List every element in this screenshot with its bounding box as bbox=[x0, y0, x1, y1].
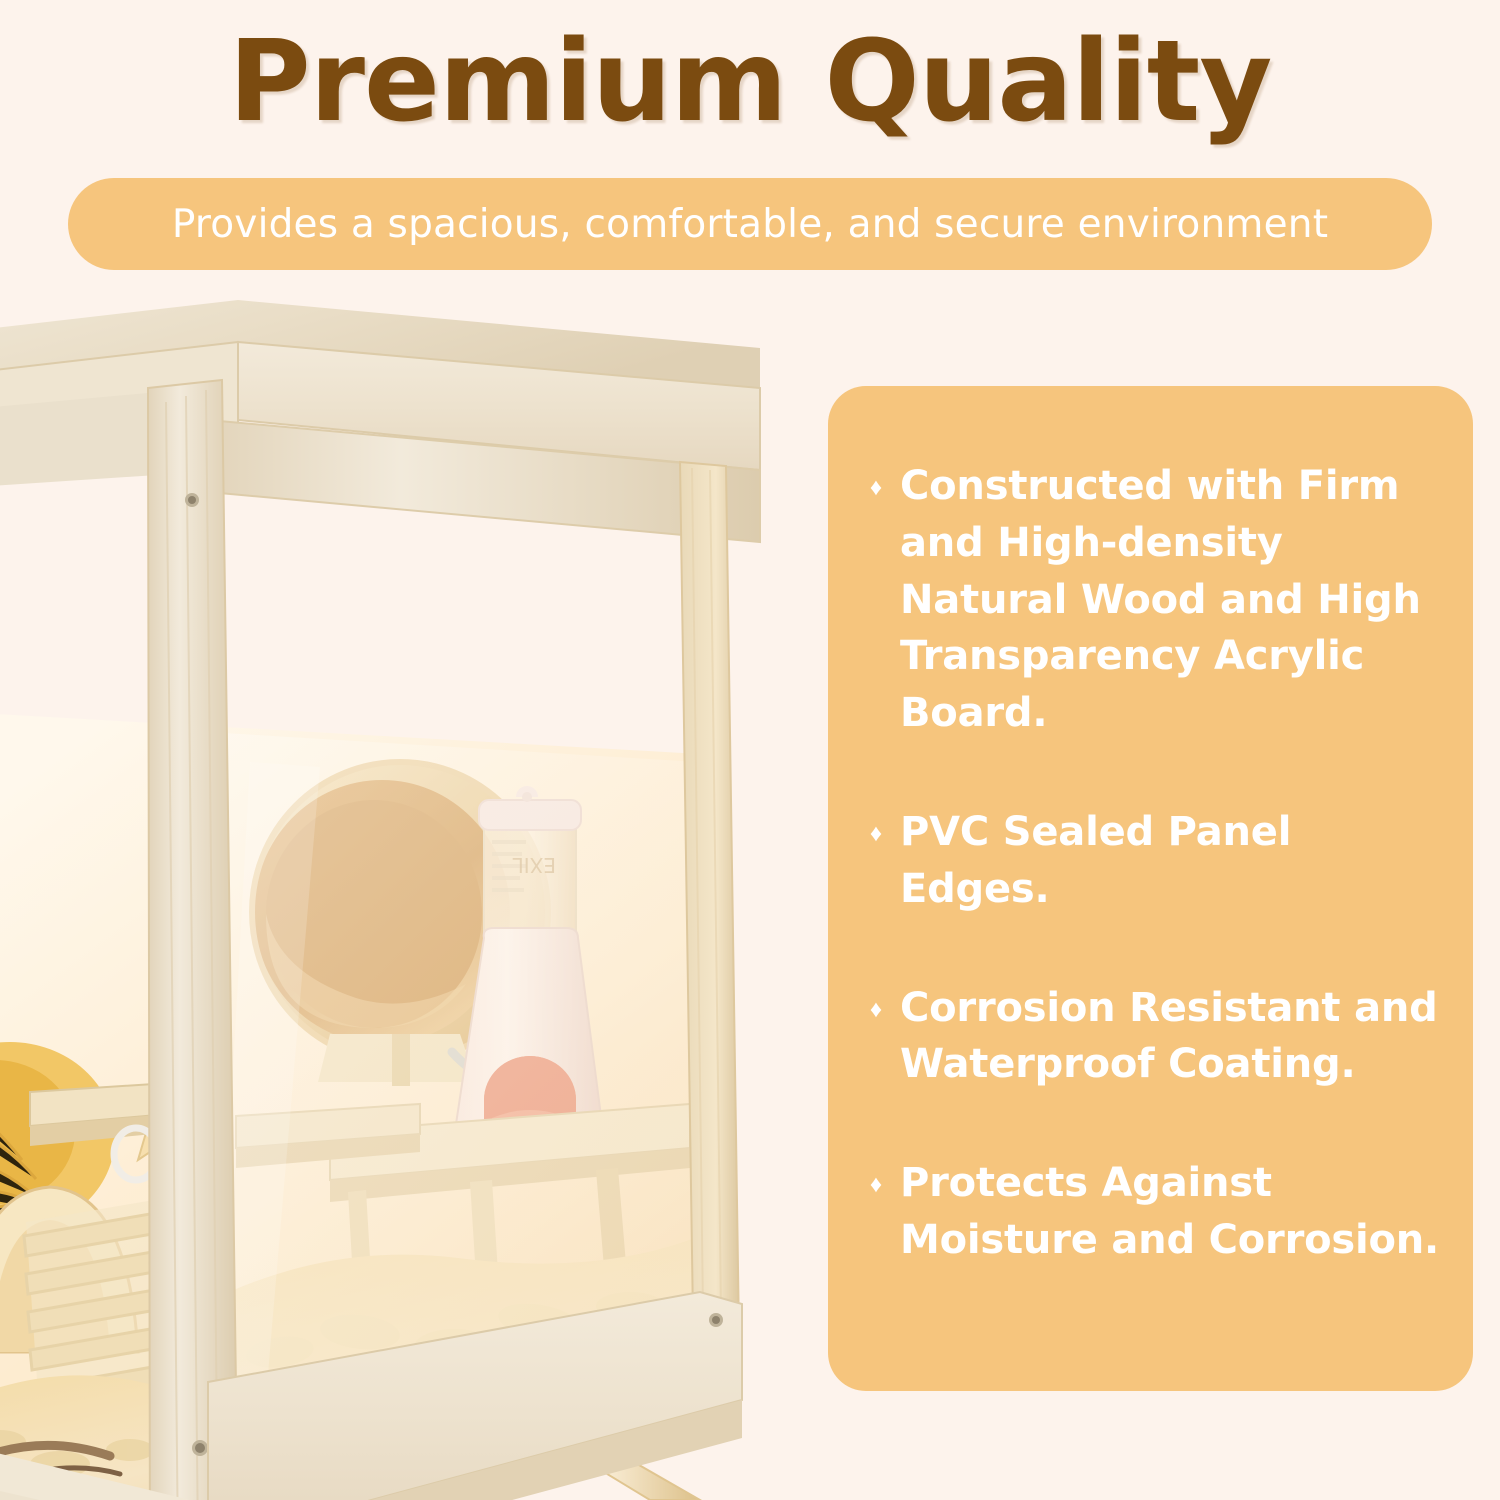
diamond-bullet-icon: ♦ bbox=[866, 476, 886, 500]
diamond-bullet-icon: ♦ bbox=[866, 998, 886, 1022]
subtitle-text: Provides a spacious, comfortable, and se… bbox=[172, 202, 1328, 247]
list-item: ♦ Protects Against Moisture and Corrosio… bbox=[866, 1155, 1443, 1269]
list-item: ♦ PVC Sealed Panel Edges. bbox=[866, 804, 1443, 918]
product-photo: EXIL bbox=[0, 292, 820, 1500]
feature-list: ♦ Constructed with Firm and High-density… bbox=[866, 458, 1443, 1269]
diamond-bullet-icon: ♦ bbox=[866, 1173, 886, 1197]
feature-text: Constructed with Firm and High-density N… bbox=[900, 458, 1443, 742]
diamond-bullet-icon: ♦ bbox=[866, 822, 886, 846]
subtitle-banner: Provides a spacious, comfortable, and se… bbox=[68, 178, 1432, 270]
features-panel: ♦ Constructed with Firm and High-density… bbox=[828, 386, 1473, 1391]
list-item: ♦ Corrosion Resistant and Waterproof Coa… bbox=[866, 980, 1443, 1094]
feature-text: Corrosion Resistant and Waterproof Coati… bbox=[900, 980, 1443, 1094]
feature-text: PVC Sealed Panel Edges. bbox=[900, 804, 1443, 918]
page-title: Premium Quality bbox=[0, 22, 1500, 143]
list-item: ♦ Constructed with Firm and High-density… bbox=[866, 458, 1443, 742]
feature-text: Protects Against Moisture and Corrosion. bbox=[900, 1155, 1443, 1269]
